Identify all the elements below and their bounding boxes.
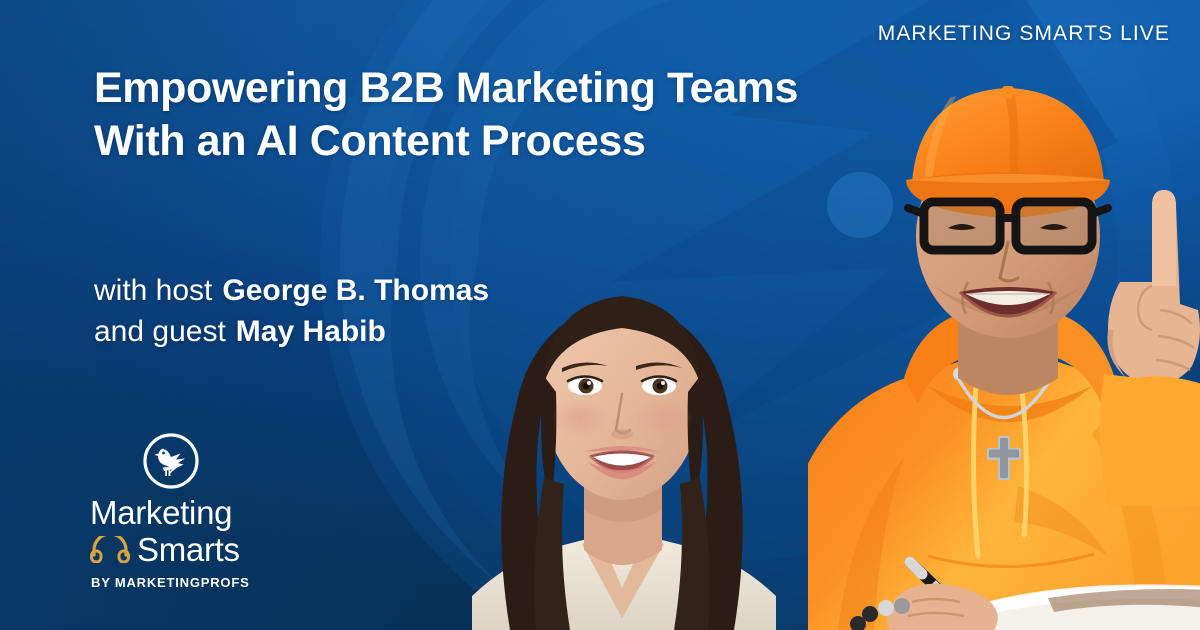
promo-banner: MARKETING SMARTS LIVE Empowering B2B Mar… [0,0,1200,630]
guest-name: May Habib [236,315,386,348]
credits-block: with hostGeorge B. Thomas and guestMay H… [94,270,489,353]
headphones-icon [90,536,130,563]
host-portrait-george-b-thomas [808,86,1200,630]
guest-portrait-may-habib [432,178,812,630]
guest-credit-row: and guestMay Habib [94,311,489,352]
title-line-2: With an AI Content Process [94,115,854,168]
bird-in-circle-icon [142,432,200,490]
marketing-smarts-logo: Marketing Smarts BY MARKETINGPROFS [88,432,263,590]
logo-word-marketing: Marketing [90,496,263,529]
logo-word-smarts: Smarts [137,533,240,566]
page-title: Empowering B2B Marketing Teams With an A… [94,62,854,169]
host-name: George B. Thomas [222,274,489,307]
host-credit-row: with hostGeorge B. Thomas [94,270,489,311]
marketing-smarts-live-label: MARKETING SMARTS LIVE [878,22,1170,46]
logo-byline: BY MARKETINGPROFS [91,575,263,590]
title-line-1: Empowering B2B Marketing Teams [94,62,854,115]
guest-lead-text: and guest [94,315,226,348]
host-lead-text: with host [94,274,212,307]
